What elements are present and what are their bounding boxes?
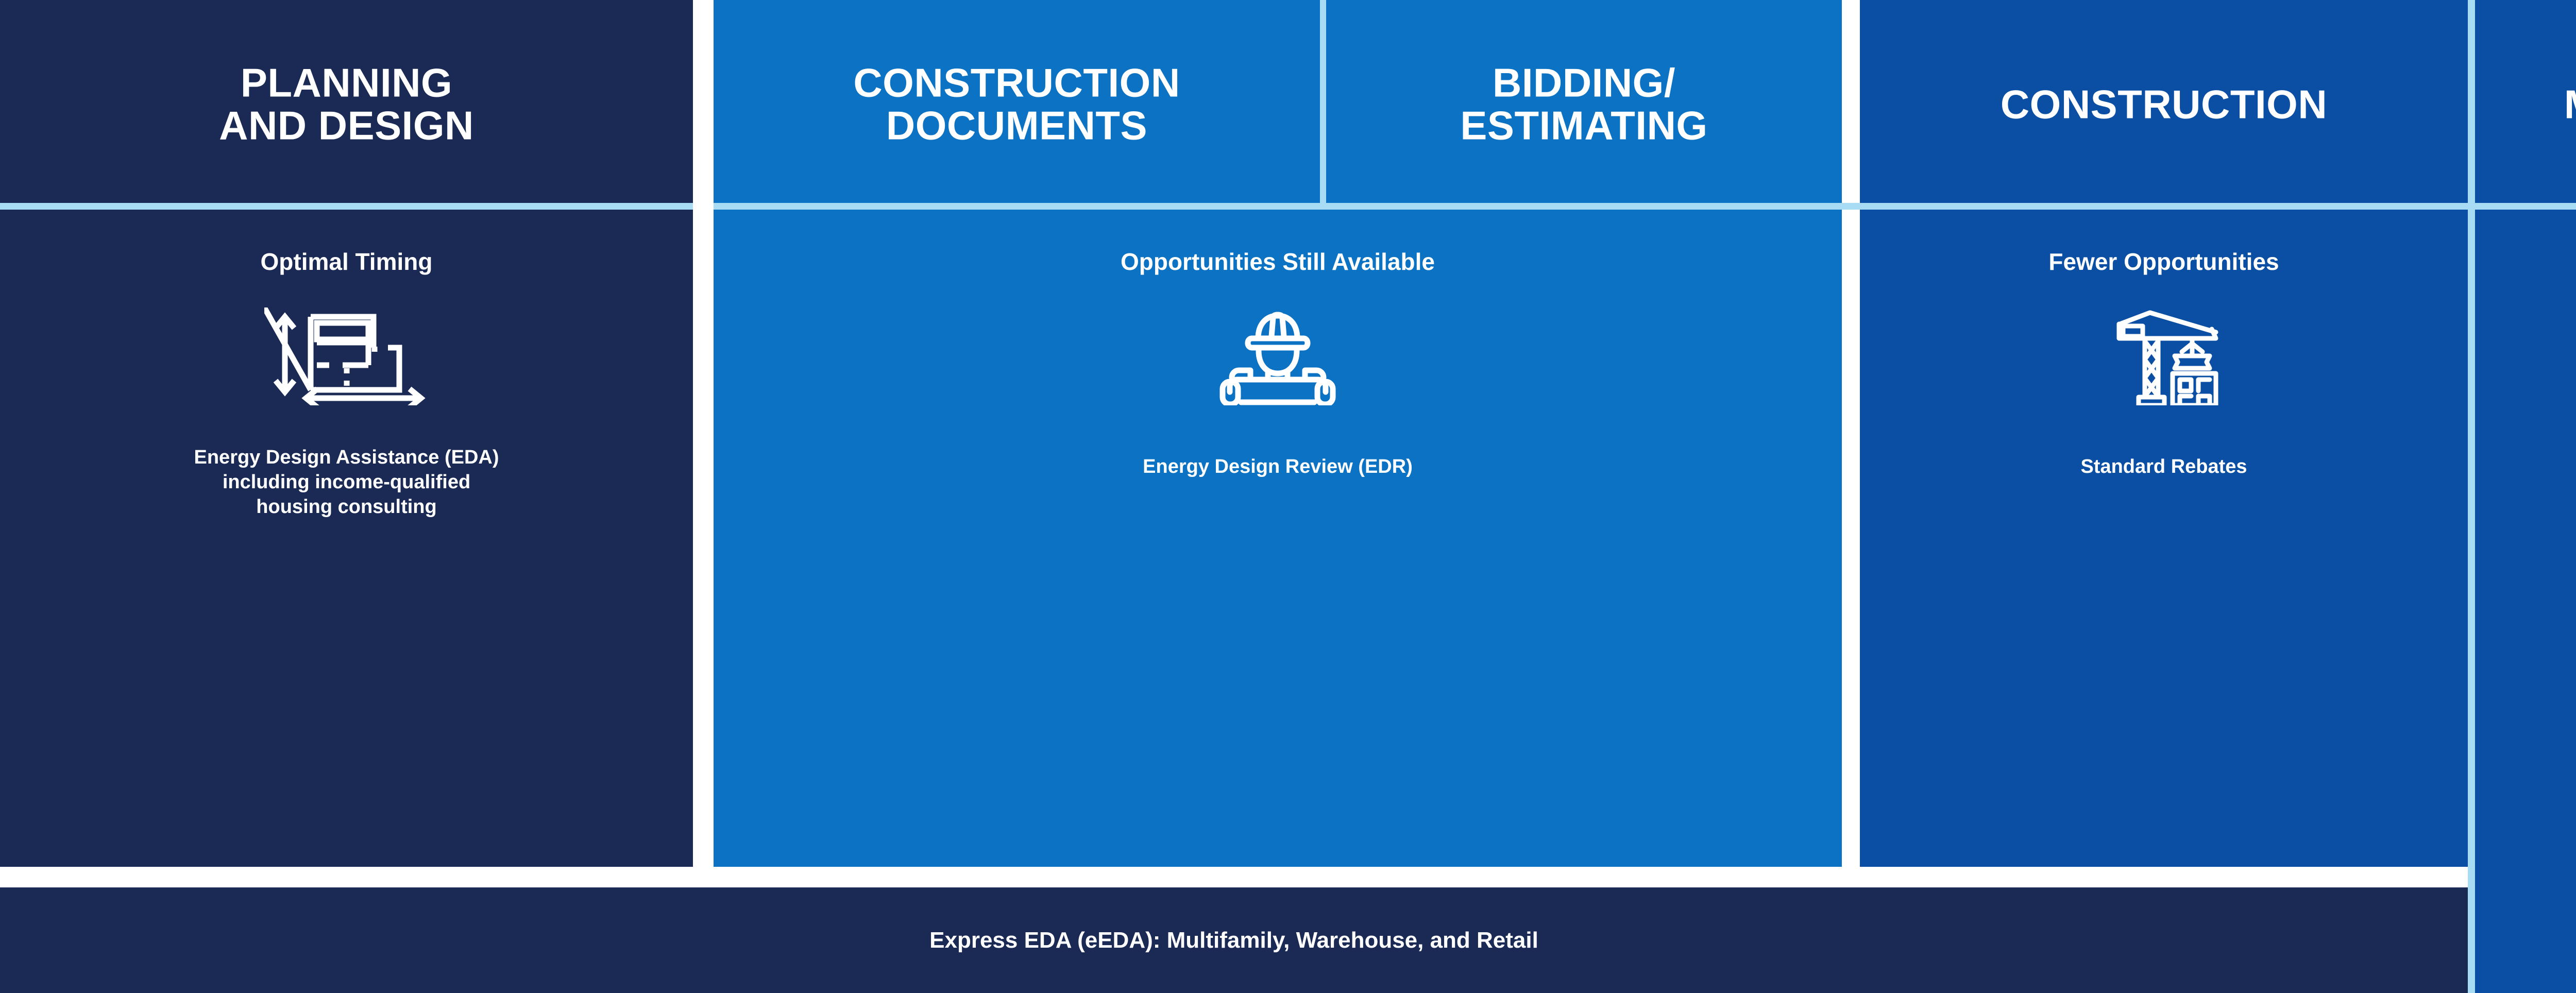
header-cell-bidding-estimating: BIDDING/ ESTIMATING bbox=[1326, 0, 1842, 209]
body-cell-construction-documents-bidding-estimating: Opportunities Still Available bbox=[714, 210, 1842, 867]
caption-energy-design-review: Energy Design Review (EDR) bbox=[1143, 455, 1413, 480]
subtitle-optimal-timing: Optimal Timing bbox=[261, 248, 433, 276]
header-title-construction: CONSTRUCTION bbox=[1860, 83, 2468, 126]
header-title-line: DOCUMENTS bbox=[719, 105, 1315, 147]
header-title-bidding-estimating: BIDDING/ ESTIMATING bbox=[1326, 62, 1842, 148]
header-title-construction-documents: CONSTRUCTION DOCUMENTS bbox=[714, 62, 1320, 148]
header-title-move-in: MOVE-IN bbox=[2475, 83, 2576, 126]
caption-line: housing consulting bbox=[194, 495, 499, 520]
header-title-planning-and-design: PLANNING AND DESIGN bbox=[0, 62, 693, 148]
subtitle-fewer-opportunities: Fewer Opportunities bbox=[2048, 248, 2279, 276]
caption-energy-design-assistance: Energy Design Assistance (EDA) including… bbox=[194, 446, 499, 520]
caption-line: Energy Design Review (EDR) bbox=[1143, 455, 1413, 480]
subtitle-opportunities-still-available: Opportunities Still Available bbox=[1121, 248, 1435, 276]
floor-plan-dimensions-icon bbox=[264, 307, 429, 405]
header-cell-construction: CONSTRUCTION bbox=[1860, 0, 2468, 209]
bottom-banner-express-eda: Express EDA (eEDA): Multifamily, Warehou… bbox=[0, 887, 2468, 993]
caption-standard-rebates: Standard Rebates bbox=[2080, 455, 2247, 480]
header-title-line: MOVE-IN bbox=[2480, 83, 2576, 126]
header-title-line: PLANNING bbox=[5, 62, 688, 105]
header-divider-2-3 bbox=[1320, 0, 1326, 203]
caption-line: including income-qualified bbox=[194, 470, 499, 495]
header-cell-planning-and-design: PLANNING AND DESIGN bbox=[0, 0, 693, 209]
caption-line: Standard Rebates bbox=[2080, 455, 2247, 480]
header-title-line: ESTIMATING bbox=[1331, 105, 1837, 147]
header-body-divider-line bbox=[714, 203, 2576, 210]
header-cell-move-in: MOVE-IN bbox=[2475, 0, 2576, 209]
header-title-line: AND DESIGN bbox=[5, 105, 688, 147]
caption-line: Energy Design Assistance (EDA) bbox=[194, 446, 499, 470]
column-divider-4-5 bbox=[2468, 0, 2475, 993]
header-body-divider-line-col1 bbox=[0, 203, 693, 210]
tower-crane-building-icon bbox=[2105, 304, 2223, 405]
body-cell-move-in: Contact Us* *for opportunities within 60… bbox=[2475, 210, 2576, 993]
body-cell-planning-and-design: Optimal Timing bbox=[0, 210, 693, 867]
header-cell-construction-documents: CONSTRUCTION DOCUMENTS bbox=[714, 0, 1320, 209]
header-title-line: CONSTRUCTION bbox=[1865, 83, 2463, 126]
body-cell-construction: Fewer Opportunities bbox=[1860, 210, 2468, 867]
header-title-line: BIDDING/ bbox=[1331, 62, 1837, 105]
bottom-banner-text: Express EDA (eEDA): Multifamily, Warehou… bbox=[929, 928, 1538, 953]
construction-worker-hardhat-icon bbox=[1218, 304, 1337, 405]
header-title-line: CONSTRUCTION bbox=[719, 62, 1315, 105]
